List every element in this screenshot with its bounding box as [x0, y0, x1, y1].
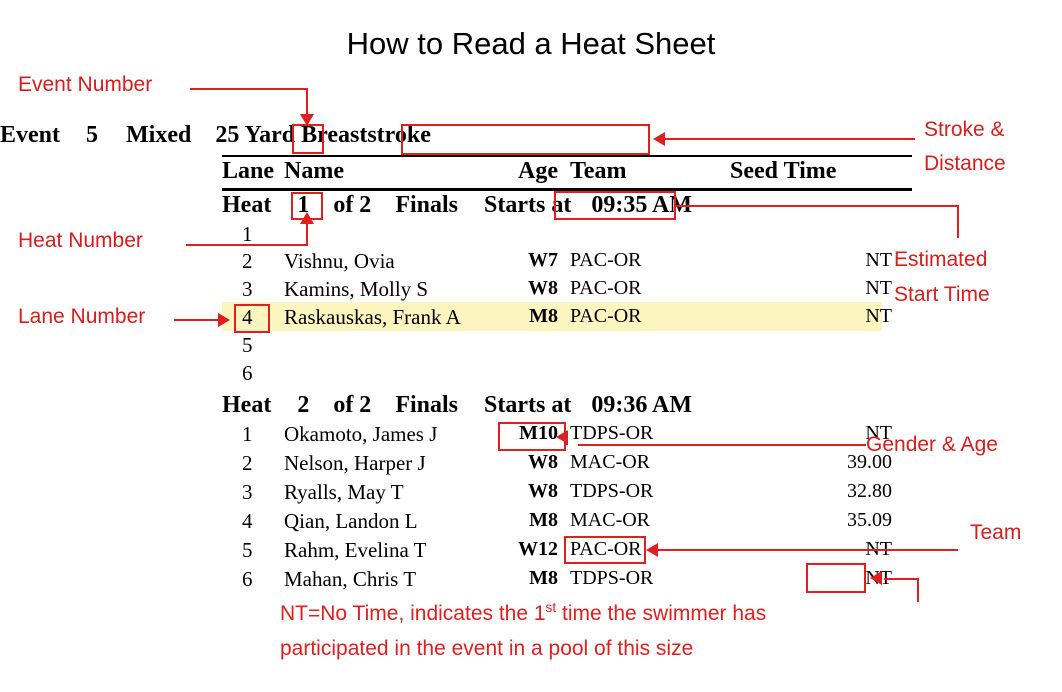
swimmer-name: Kamins, Molly S: [284, 277, 428, 302]
annotation-event-number: Event Number: [18, 73, 152, 97]
lane-number: 1: [222, 422, 282, 447]
lane-number: 5: [222, 538, 282, 563]
page-title: How to Read a Heat Sheet: [0, 26, 1062, 62]
swimmer-name: Vishnu, Ovia: [284, 249, 395, 274]
lane-number: 5: [222, 333, 282, 358]
leader-line-nt-vert: [917, 578, 919, 602]
heat-2-header: Heat 2 of 2 Finals Starts at 09:36 AM: [222, 392, 692, 419]
table-row: 2 Nelson, Harper J W8 MAC-OR 39.00: [222, 451, 912, 477]
arrow-gender-age: [556, 430, 568, 444]
gender-age: W8: [498, 451, 558, 474]
event-stroke-distance: 25 Yard Breaststroke: [215, 122, 431, 148]
lane-number: 2: [222, 249, 282, 274]
heat-1-starts-at-label: Starts at: [484, 192, 571, 218]
table-row: 4 Qian, Landon L M8 MAC-OR 35.09: [222, 509, 912, 535]
team: PAC-OR: [570, 538, 642, 561]
table-row: 3 Ryalls, May T W8 TDPS-OR 32.80: [222, 480, 912, 506]
swimmer-name: Rahm, Evelina T: [284, 538, 427, 563]
lane-number: 6: [222, 567, 282, 592]
event-number: 5: [86, 122, 98, 148]
table-row: 4 Raskauskas, Frank A M8 PAC-OR NT: [222, 305, 912, 331]
team: TDPS-OR: [570, 567, 653, 590]
column-header-team: Team: [570, 158, 626, 185]
heat-2-start-time: 09:36 AM: [591, 392, 692, 418]
team: PAC-OR: [570, 277, 642, 300]
leader-line-team: [658, 549, 958, 551]
lane-number: 6: [222, 361, 282, 386]
gender-age: M8: [498, 305, 558, 328]
team: MAC-OR: [570, 451, 650, 474]
column-header-lane: Lane: [222, 158, 282, 185]
swimmer-name: Nelson, Harper J: [284, 451, 426, 476]
table-row: 3 Kamins, Molly S W8 PAC-OR NT: [222, 277, 912, 303]
leader-line-event-number: [190, 88, 308, 90]
gender-age: W12: [498, 538, 558, 561]
leader-line-nt: [884, 578, 919, 580]
nt-note-part-b: time the swimmer has: [556, 602, 766, 625]
header-rule-top: [222, 155, 912, 157]
swimmer-name: Mahan, Chris T: [284, 567, 416, 592]
event-line: Event 5 Mixed 25 Yard Breaststroke: [0, 122, 431, 149]
swimmer-name: Qian, Landon L: [284, 509, 418, 534]
table-row: 6 Mahan, Chris T M8 TDPS-OR NT: [222, 567, 912, 593]
heat-2-number: 2: [297, 392, 309, 418]
heat-1-round: Finals: [395, 192, 458, 218]
table-row: 2 Vishnu, Ovia W7 PAC-OR NT: [222, 249, 912, 275]
seed-time: 32.80: [732, 480, 892, 503]
annotation-stroke-distance-line2: Distance: [924, 152, 1006, 176]
annotation-stroke-distance-line1: Stroke &: [924, 118, 1005, 142]
annotation-lane-number: Lane Number: [18, 305, 145, 329]
team: PAC-OR: [570, 249, 642, 272]
lane-number: 4: [222, 509, 282, 534]
arrow-nt: [870, 571, 882, 585]
arrow-heat-number: [300, 212, 314, 224]
swimmer-name: Raskauskas, Frank A: [284, 305, 461, 330]
arrow-team: [646, 543, 658, 557]
heat-2-label: Heat: [222, 392, 271, 418]
heat-2-round: Finals: [395, 392, 458, 418]
seed-time: NT: [732, 249, 892, 272]
leader-line-lane-number: [174, 319, 220, 321]
seed-time: NT: [732, 305, 892, 328]
header-rule-bottom: [222, 188, 912, 191]
table-row: 1: [222, 222, 912, 248]
nt-note-part-a: NT=No Time, indicates the 1: [280, 602, 546, 625]
event-label: Event: [0, 122, 60, 148]
lane-number: 3: [222, 480, 282, 505]
annotation-estimated-line1: Estimated: [894, 248, 987, 272]
lane-number: 3: [222, 277, 282, 302]
leader-line-start-time-vert: [957, 205, 959, 238]
gender-age: W8: [498, 277, 558, 300]
swimmer-name: Ryalls, May T: [284, 480, 404, 505]
nt-note-superscript: st: [546, 600, 557, 615]
heat-sheet-infographic: How to Read a Heat Sheet Event 5 Mixed 2…: [0, 0, 1062, 692]
leader-line-stroke-distance: [665, 138, 915, 140]
heat-1-label: Heat: [222, 192, 271, 218]
heat-2-of: of 2: [333, 392, 371, 418]
annotation-nt-note-line1: NT=No Time, indicates the 1st time the s…: [280, 600, 766, 626]
arrow-event-number: [300, 114, 314, 126]
gender-age: W7: [498, 249, 558, 272]
highlight-box-stroke-distance: [401, 124, 650, 155]
seed-time: NT: [732, 567, 892, 590]
gender-age: M10: [498, 422, 558, 445]
gender-age: W8: [498, 480, 558, 503]
swimmer-name: Okamoto, James J: [284, 422, 437, 447]
lane-number: 4: [222, 305, 282, 330]
heat-1-header: Heat 1 of 2 Finals Starts at 09:35 AM: [222, 192, 692, 219]
leader-line-gender-age: [578, 444, 866, 446]
leader-line-heat-number: [186, 244, 308, 246]
column-header-age: Age: [498, 158, 558, 185]
leader-line-start-time: [676, 205, 959, 207]
column-header-name: Name: [284, 158, 344, 185]
heat-2-starts-at-label: Starts at: [484, 392, 571, 418]
leader-line-heat-number-vert: [306, 223, 308, 245]
arrow-stroke-distance: [653, 132, 665, 146]
lane-number: 2: [222, 451, 282, 476]
annotation-gender-age: Gender & Age: [866, 433, 998, 457]
table-row: 6: [222, 361, 912, 387]
leader-line-event-number-vert: [306, 88, 308, 116]
annotation-nt-note-line2: participated in the event in a pool of t…: [280, 637, 693, 661]
annotation-heat-number: Heat Number: [18, 229, 143, 253]
seed-time: NT: [732, 277, 892, 300]
column-header-seed-time: Seed Time: [730, 158, 890, 185]
column-headers: Lane Name Age Team Seed Time: [222, 158, 912, 188]
team: TDPS-OR: [570, 480, 653, 503]
seed-time: 35.09: [732, 509, 892, 532]
arrow-lane-number: [218, 313, 230, 327]
table-row: 5 Rahm, Evelina T W12 PAC-OR NT: [222, 538, 912, 564]
team: TDPS-OR: [570, 422, 653, 445]
heat-1-of: of 2: [333, 192, 371, 218]
annotation-team: Team: [970, 521, 1021, 545]
team: MAC-OR: [570, 509, 650, 532]
annotation-estimated-line2: Start Time: [894, 283, 990, 307]
event-gender: Mixed: [126, 122, 191, 148]
gender-age: M8: [498, 509, 558, 532]
team: PAC-OR: [570, 305, 642, 328]
gender-age: M8: [498, 567, 558, 590]
table-row: 5: [222, 333, 912, 359]
